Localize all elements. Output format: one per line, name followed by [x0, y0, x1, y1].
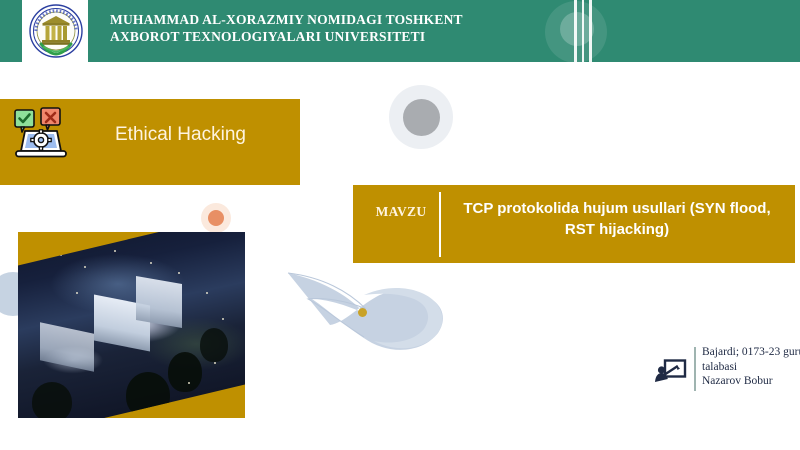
- laptop-security-gear-icon: [12, 106, 68, 162]
- presenter-board-icon: [653, 358, 687, 386]
- credit-line-3: Nazarov Bobur: [702, 374, 800, 389]
- header-vertical-stripes-decoration: [589, 0, 592, 62]
- university-emblem-icon: [29, 4, 83, 58]
- header-title-line-2: AXBOROT TEXNOLOGIYALARI UNIVERSITETI: [110, 28, 580, 45]
- credit-line-2: talabasi: [702, 360, 800, 375]
- mavzu-label: MAVZU: [369, 204, 433, 220]
- credit-divider: [694, 347, 696, 391]
- mavzu-topic-line-1: TCP protokolida hujum usullari (SYN: [463, 200, 725, 217]
- header-vertical-stripes-decoration: [582, 0, 584, 62]
- presenter-credit-text: Bajardi; 0173-23 guruh talabasi Nazarov …: [702, 345, 800, 389]
- ethical-hacking-label: Ethical Hacking: [115, 124, 295, 146]
- header-title-line-1: MUHAMMAD AL-XORAZMIY NOMIDAGI TOSHKENT: [110, 11, 580, 28]
- credit-line-1: Bajardi; 0173-23 guruh: [702, 345, 800, 360]
- blue-ribbon-swoosh-decoration: [286, 255, 466, 365]
- university-campus-aerial-night-photo: [18, 232, 245, 418]
- mavzu-topic-text: TCP protokolida hujum usullari (SYN floo…: [452, 198, 782, 240]
- gray-circle-decoration-inner: [403, 99, 440, 136]
- gold-dot-decoration: [358, 308, 367, 317]
- header-university-title: MUHAMMAD AL-XORAZMIY NOMIDAGI TOSHKENT A…: [110, 11, 580, 45]
- salmon-dot-decoration: [208, 210, 224, 226]
- presentation-slide: MUHAMMAD AL-XORAZMIY NOMIDAGI TOSHKENT A…: [0, 0, 800, 450]
- campus-photo-image: [18, 232, 245, 418]
- mavzu-divider: [439, 192, 441, 257]
